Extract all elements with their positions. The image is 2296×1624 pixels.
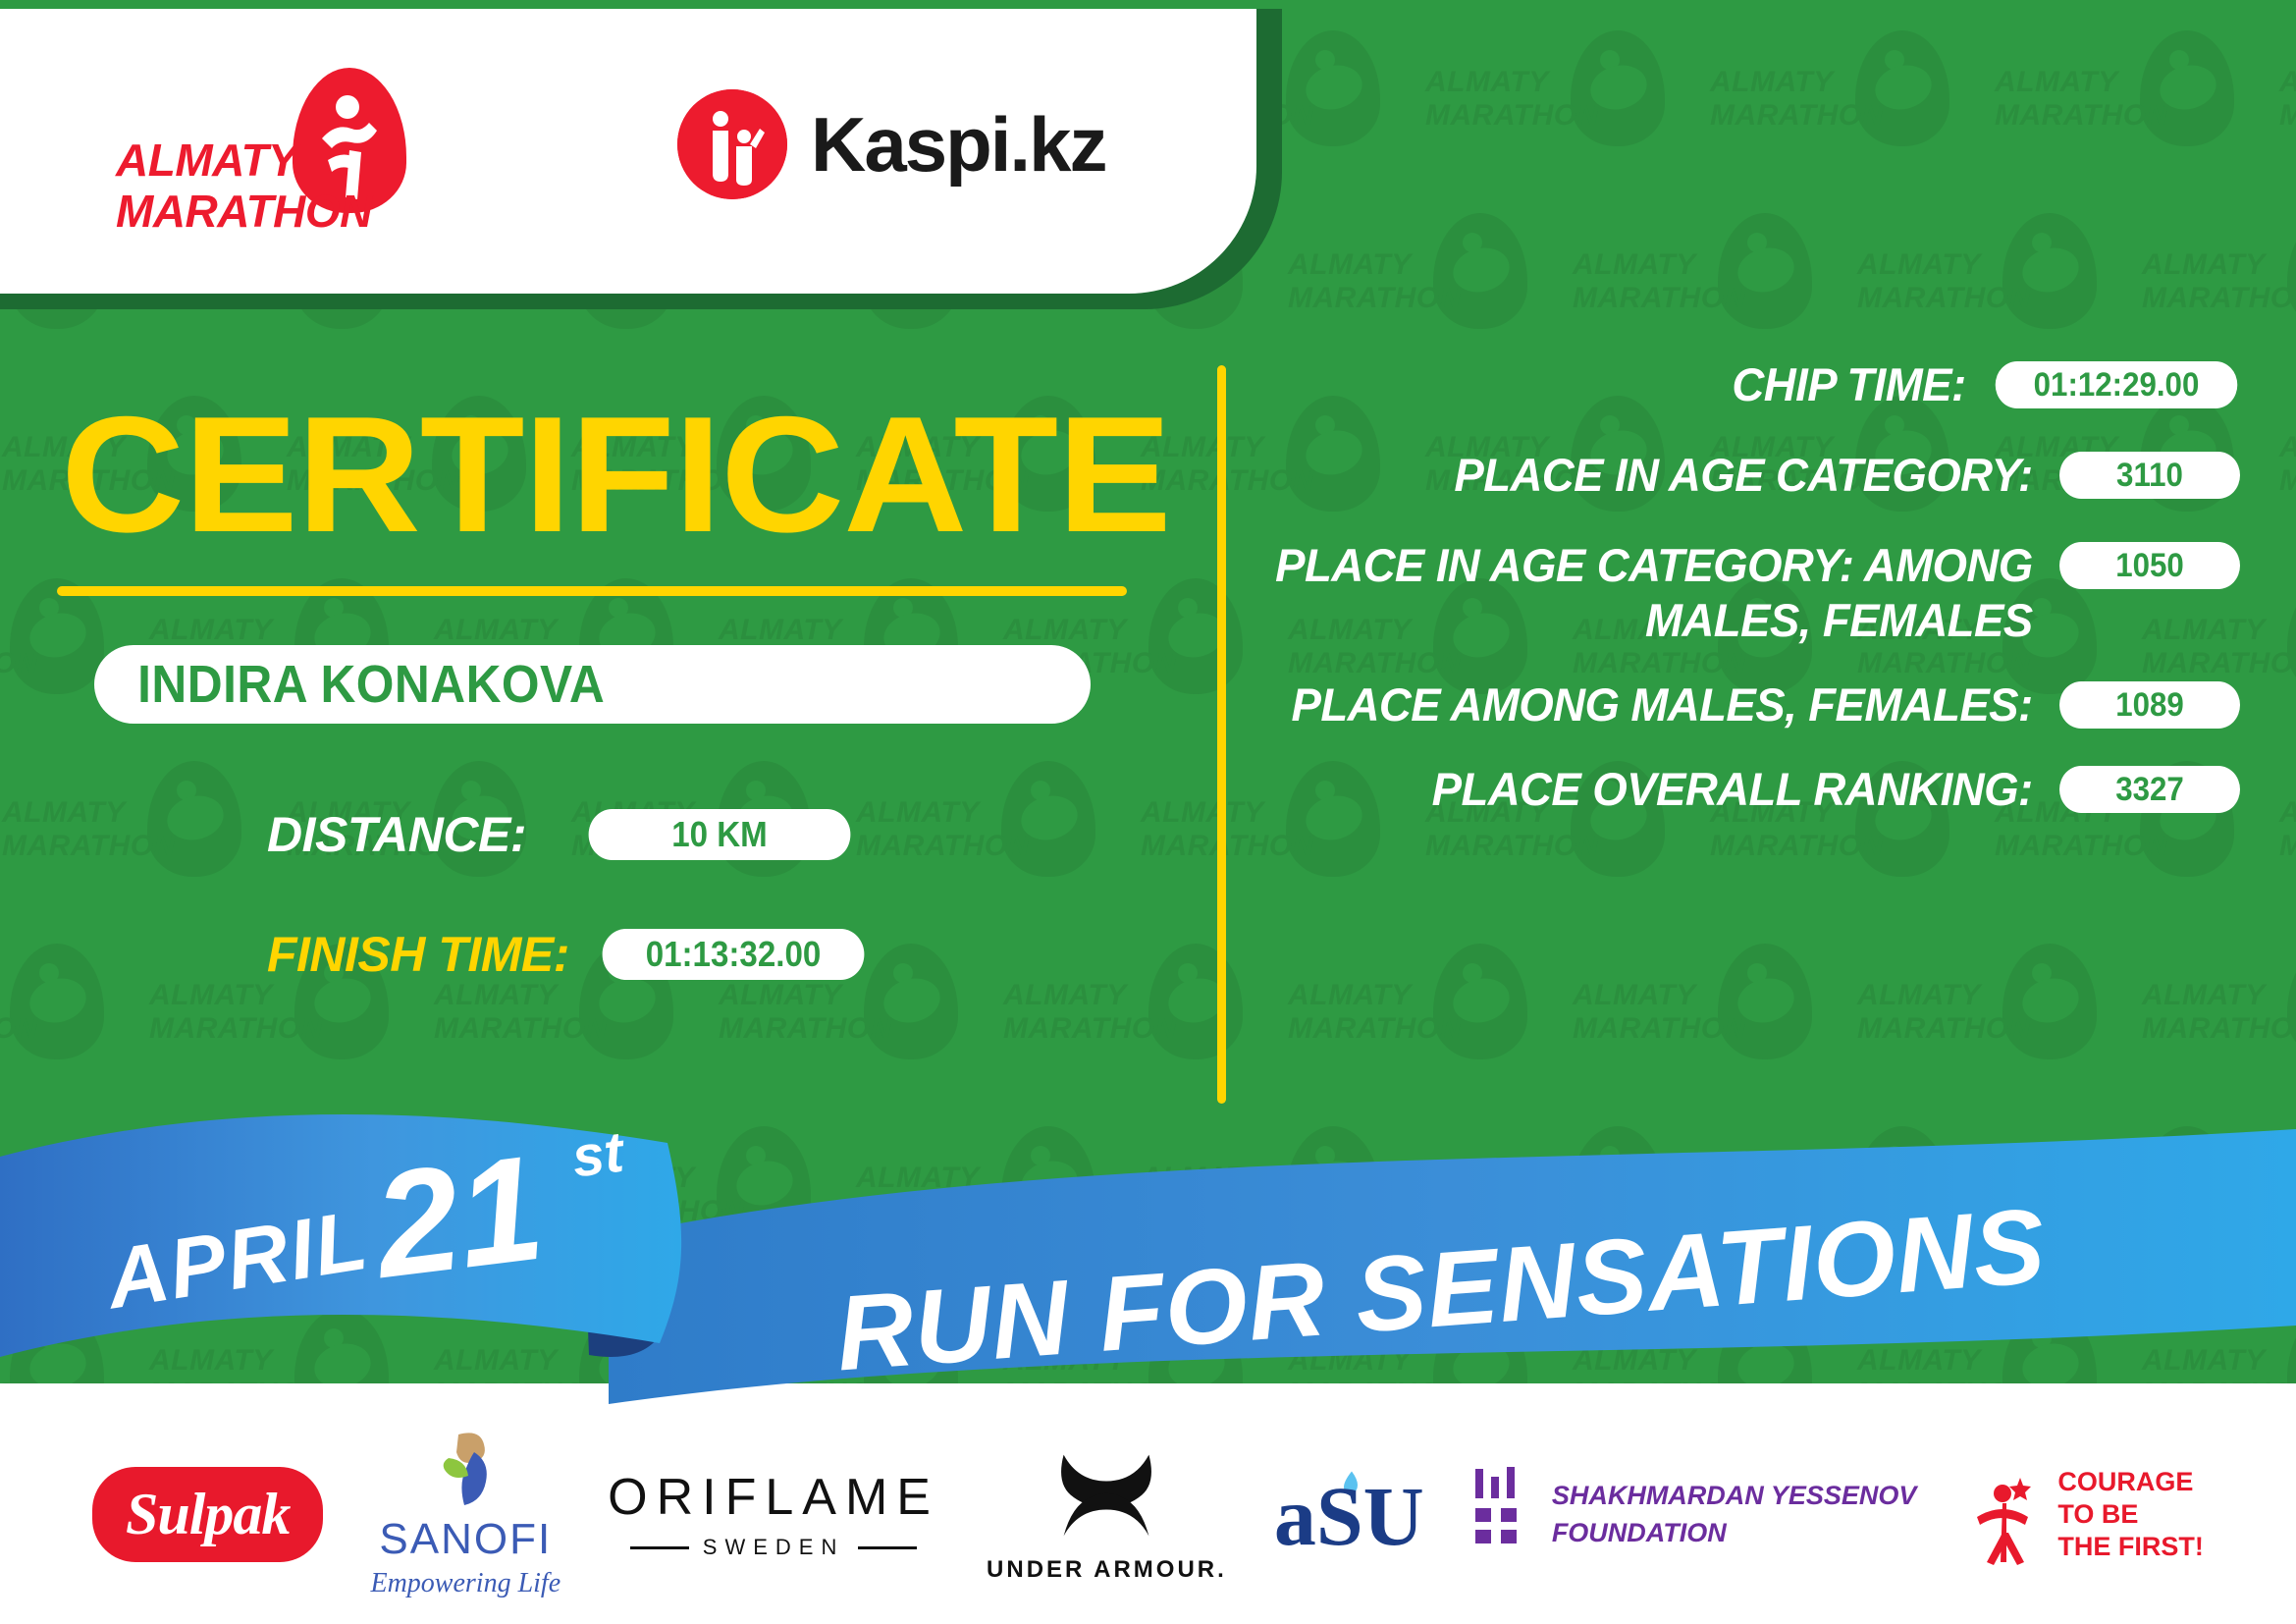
watermark-text: ALMATYMARATHON: [1857, 248, 2044, 315]
place-age-category-label: PLACE IN AGE CATEGORY:: [1261, 448, 2052, 503]
place-among-gender-label: PLACE AMONG MALES, FEMALES:: [1261, 677, 2052, 732]
watermark-text: ALMATYMARATHON: [2279, 66, 2296, 133]
right-column: CHIP TIME: 01:12:29.00 PLACE IN AGE CATE…: [1237, 357, 2248, 840]
watermark-text: ALMATYMARATHON: [1710, 66, 1896, 133]
finish-time-value: 01:13:32.00: [602, 929, 864, 980]
oriflame-label: ORIFLAME: [608, 1468, 939, 1527]
sanofi-label: SANOFI: [379, 1515, 552, 1564]
ribbon-date-day: 21: [363, 1124, 552, 1311]
sulpak-label: Sulpak: [126, 1482, 290, 1546]
watermark-tile: ALMATYMARATHON: [1286, 191, 1571, 368]
certificate-page: ALMATYMARATHONALMATYMARATHONALMATYMARATH…: [0, 0, 2296, 1624]
place-age-category-gender-row: PLACE IN AGE CATEGORY: AMONG MALES, FEMA…: [1237, 538, 2248, 648]
watermark-tile: ALMATYMARATHON: [1286, 922, 1571, 1099]
distance-row: DISTANCE: 10 KM: [267, 806, 862, 863]
place-overall-label: PLACE OVERALL RANKING:: [1261, 762, 2052, 817]
sponsor-under-armour: UNDER ARMOUR.: [987, 1444, 1227, 1584]
yessenov-foundation-logo: SHAKHMARDAN YESSENOV FOUNDATION: [1471, 1467, 1917, 1561]
watermark-text: ALMATYMARATHON: [1288, 979, 1474, 1046]
watermark-text: ALMATYMARATHON: [2279, 796, 2296, 863]
place-age-category-gender-value: 1050: [2059, 542, 2240, 589]
event-ribbon: APRIL 21 st RUN FOR SENSATIONS: [0, 1080, 2296, 1404]
under-armour-logo: [1045, 1444, 1167, 1546]
ribbon-date-suffix: st: [568, 1119, 629, 1189]
sponsor-oriflame: ORIFLAME SWEDEN: [608, 1468, 939, 1560]
sponsors-bar: Sulpak SANOFI Empowering Life ORIFLAME S…: [0, 1404, 2296, 1624]
athlete-name-value: INDIRA KONAKOVA: [94, 654, 605, 715]
under-armour-label: UNDER ARMOUR.: [987, 1556, 1227, 1584]
watermark-tile: ALMATYMARATHON: [1855, 922, 2140, 1099]
watermark-text: ALMATYMARATHON: [2142, 979, 2296, 1046]
watermark-tile: ALMATYMARATHON: [2140, 191, 2296, 368]
courage-line2: TO BE: [2057, 1498, 2204, 1531]
watermark-text: ALMATYMARATHON: [1288, 248, 1474, 315]
courage-figure-icon: [1963, 1460, 2042, 1568]
vertical-divider: [1217, 365, 1226, 1104]
chip-time-label: CHIP TIME:: [1259, 357, 1985, 412]
yessenov-foundation-text: SHAKHMARDAN YESSENOV FOUNDATION: [1552, 1477, 1917, 1551]
watermark-text: ALMATYMARATHON: [1573, 248, 1759, 315]
watermark-tile: ALMATYMARATHON: [1708, 9, 1993, 186]
sanofi-tagline: Empowering Life: [370, 1568, 561, 1599]
asu-label: aSU: [1274, 1474, 1424, 1558]
top-green-rule: [0, 0, 2296, 9]
watermark-tile: ALMATYMARATHON: [1423, 9, 1708, 186]
watermark-tile: ALMATYMARATHON: [1855, 191, 2140, 368]
sulpak-logo: Sulpak: [92, 1467, 323, 1562]
watermark-text: ALMATYMARATHON: [1573, 979, 1759, 1046]
place-age-category-value: 3110: [2059, 452, 2240, 499]
place-among-gender-value: 1089: [2059, 681, 2240, 729]
watermark-text: ALMATYMARATHON: [1857, 979, 2044, 1046]
yessenov-line1: SHAKHMARDAN YESSENOV: [1552, 1477, 1917, 1514]
watermark-tile: ALMATYMARATHON: [2277, 374, 2296, 551]
oriflame-rule-left: [630, 1546, 689, 1549]
chip-time-row: CHIP TIME: 01:12:29.00: [1237, 357, 2248, 412]
page-title: CERTIFICATE: [61, 392, 1171, 557]
sponsor-sulpak: Sulpak: [92, 1467, 323, 1562]
watermark-tile: ALMATYMARATHON: [1571, 922, 1855, 1099]
finish-time-row: FINISH TIME: 01:13:32.00: [267, 926, 876, 983]
oriflame-sub-row: SWEDEN: [630, 1535, 918, 1560]
finish-time-label: FINISH TIME:: [267, 926, 569, 983]
courage-to-be-first-logo: COURAGE TO BE THE FIRST!: [1963, 1460, 2204, 1568]
place-overall-row: PLACE OVERALL RANKING: 3327: [1237, 762, 2248, 817]
watermark-text: ALMATYMARATHON: [2279, 431, 2296, 498]
watermark-tile: ALMATYMARATHON: [2140, 922, 2296, 1099]
oriflame-sub-label: SWEDEN: [703, 1535, 845, 1560]
watermark-tile: ALMATYMARATHON: [2277, 9, 2296, 186]
place-age-category-gender-label: PLACE IN AGE CATEGORY: AMONG MALES, FEMA…: [1261, 538, 2052, 648]
watermark-text: ALMATYMARATHON: [2142, 248, 2296, 315]
courage-text: COURAGE TO BE THE FIRST!: [2057, 1466, 2204, 1563]
watermark-tile: ALMATYMARATHON: [1571, 191, 1855, 368]
distance-label: DISTANCE:: [267, 806, 526, 863]
place-overall-value: 3327: [2059, 766, 2240, 813]
watermark-text: ALMATYMARATHON: [1995, 66, 2181, 133]
watermark-text: ALMATYMARATHON: [1425, 66, 1612, 133]
sponsor-courage-fund: COURAGE TO BE THE FIRST!: [1963, 1460, 2204, 1568]
sponsor-sanofi: SANOFI Empowering Life: [370, 1429, 561, 1599]
sanofi-logo: [429, 1429, 502, 1509]
oriflame-rule-right: [858, 1546, 917, 1549]
chip-time-value: 01:12:29.00: [1996, 361, 2238, 408]
place-among-gender-row: PLACE AMONG MALES, FEMALES: 1089: [1237, 677, 2248, 732]
ribbon-graphic: APRIL 21 st RUN FOR SENSATIONS: [0, 1080, 2296, 1404]
yessenov-bars-icon: [1471, 1467, 1530, 1561]
distance-value: 10 KM: [589, 809, 851, 860]
sponsor-yessenov-foundation: SHAKHMARDAN YESSENOV FOUNDATION: [1471, 1467, 1917, 1561]
sanofi-glyph-icon: [429, 1429, 502, 1509]
title-underline: [57, 586, 1127, 596]
sponsor-asu: aSU: [1274, 1470, 1424, 1558]
watermark-tile: ALMATYMARATHON: [2277, 739, 2296, 916]
place-age-category-row: PLACE IN AGE CATEGORY: 3110: [1237, 448, 2248, 503]
athlete-name-field: INDIRA KONAKOVA: [94, 645, 1091, 724]
courage-line1: COURAGE: [2057, 1466, 2204, 1498]
watermark-tile: ALMATYMARATHON: [1993, 9, 2277, 186]
courage-line3: THE FIRST!: [2057, 1531, 2204, 1563]
yessenov-line2: FOUNDATION: [1552, 1514, 1917, 1551]
